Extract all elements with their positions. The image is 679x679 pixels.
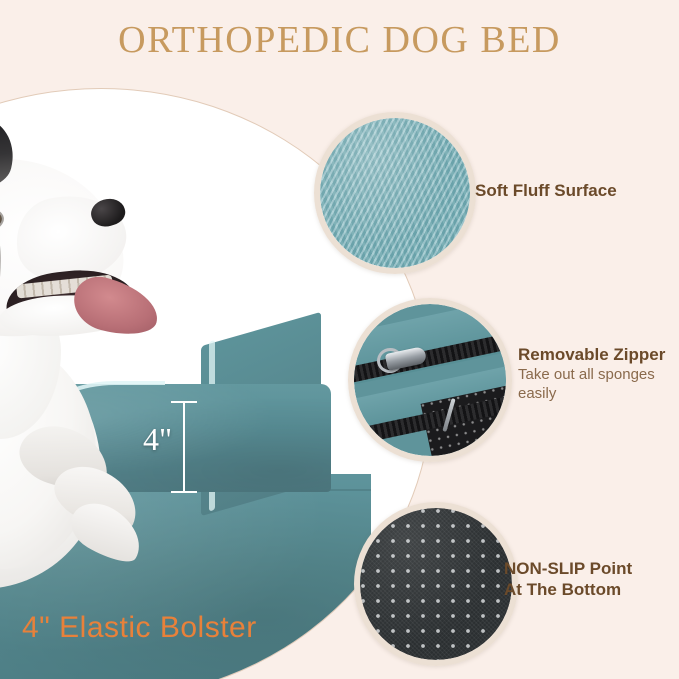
callout-fluff-title: Soft Fluff Surface <box>475 180 617 201</box>
feature-swatch-fluff <box>314 112 476 274</box>
bolster-headline: 4" Elastic Bolster <box>22 611 257 645</box>
nonslip-swatch-image <box>360 508 512 660</box>
page-title: ORTHOPEDIC DOG BED <box>0 18 679 62</box>
callout-nonslip: NON-SLIP Point At The Bottom <box>504 558 632 601</box>
callout-zipper-subtitle: Take out all sponges easily <box>518 365 678 403</box>
feature-swatch-nonslip <box>354 502 518 666</box>
nonslip-dot-texture <box>360 508 512 660</box>
callout-nonslip-title-line2: At The Bottom <box>504 579 632 600</box>
zipper-swatch-image <box>354 304 506 456</box>
feature-swatch-zipper <box>348 298 512 462</box>
callout-fluff: Soft Fluff Surface <box>475 180 617 201</box>
fluff-texture <box>320 118 470 268</box>
callout-zipper-title: Removable Zipper <box>518 344 678 365</box>
infographic-canvas: ORTHOPEDIC DOG BED 4" <box>0 0 679 679</box>
callout-nonslip-title-line1: NON-SLIP Point <box>504 558 632 579</box>
dog-photo-subject <box>0 99 221 599</box>
fluff-swatch-image <box>320 118 470 268</box>
callout-zipper: Removable Zipper Take out all sponges ea… <box>518 344 678 404</box>
